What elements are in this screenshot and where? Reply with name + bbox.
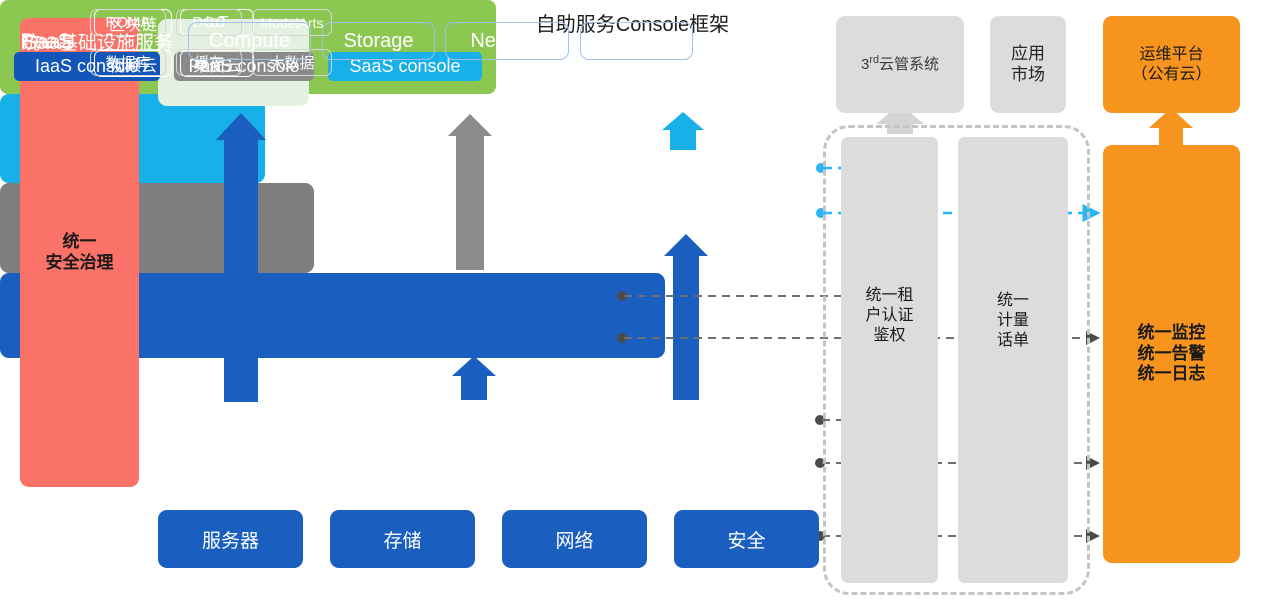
infra-chip-compute[interactable]: Compute bbox=[188, 22, 311, 60]
unified-tenant-auth-text: 统一租 户认证 鉴权 bbox=[841, 286, 938, 346]
security-governance-column[interactable]: 统一 安全治理 bbox=[20, 18, 139, 487]
unified-ops-column[interactable]: 统一监控 统一告警 统一日志 bbox=[1103, 145, 1240, 563]
auth-line1: 统一租 bbox=[841, 286, 938, 306]
meter-line1: 统一 bbox=[958, 291, 1068, 311]
ops-platform-box[interactable]: 运维平台 （公有云） bbox=[1103, 16, 1240, 113]
third-party-label: 3rd云管系统 bbox=[861, 54, 939, 74]
hardware-box-storage[interactable]: 存储 bbox=[330, 510, 475, 568]
app-market-box[interactable]: 应用 市场 bbox=[990, 16, 1066, 113]
infra-chip-network[interactable]: Network bbox=[445, 22, 569, 60]
unified-tenant-auth-column[interactable]: 统一租 户认证 鉴权 bbox=[841, 137, 938, 583]
app-market-line2: 市场 bbox=[1011, 65, 1045, 86]
unified-monitor-label: 统一监控 bbox=[1138, 323, 1206, 344]
hardware-box-security[interactable]: 安全 bbox=[674, 510, 819, 568]
arrow-infra-to-saas bbox=[664, 234, 708, 400]
auth-line2: 户认证 bbox=[841, 306, 938, 326]
unified-metering-column[interactable]: 统一 计量 话单 bbox=[958, 137, 1068, 583]
meter-line3: 话单 bbox=[958, 331, 1068, 351]
unified-infrastructure-label: 统一基础设施服务 bbox=[12, 28, 182, 55]
infra-chip-cce[interactable]: CCE bbox=[580, 22, 693, 60]
ops-platform-line2: （公有云） bbox=[1131, 65, 1211, 85]
arrow-saas-to-console bbox=[662, 112, 704, 150]
app-market-line1: 应用 bbox=[1011, 44, 1045, 65]
arrow-paas-to-console bbox=[448, 114, 492, 270]
infra-chip-storage[interactable]: Storage bbox=[322, 22, 435, 60]
unified-log-label: 统一日志 bbox=[1138, 364, 1206, 385]
third-party-cloud-mgmt-box[interactable]: 3rd云管系统 bbox=[836, 16, 964, 113]
auth-line3: 鉴权 bbox=[841, 326, 938, 346]
arrow-ops-column-to-ops-platform bbox=[1149, 108, 1193, 146]
security-governance-line2: 安全治理 bbox=[46, 253, 114, 274]
ops-platform-line1: 运维平台 bbox=[1131, 45, 1211, 65]
hardware-box-network[interactable]: 网络 bbox=[502, 510, 647, 568]
security-governance-line1: 统一 bbox=[46, 232, 114, 253]
architecture-diagram: 统一 安全治理 API网关 自助服务Console框架 IaaS console… bbox=[0, 0, 1265, 605]
unified-metering-text: 统一 计量 话单 bbox=[958, 291, 1068, 351]
meter-line2: 计量 bbox=[958, 311, 1068, 331]
hardware-box-server[interactable]: 服务器 bbox=[158, 510, 303, 568]
arrow-infra-to-paas bbox=[452, 356, 496, 400]
unified-alarm-label: 统一告警 bbox=[1138, 344, 1206, 365]
